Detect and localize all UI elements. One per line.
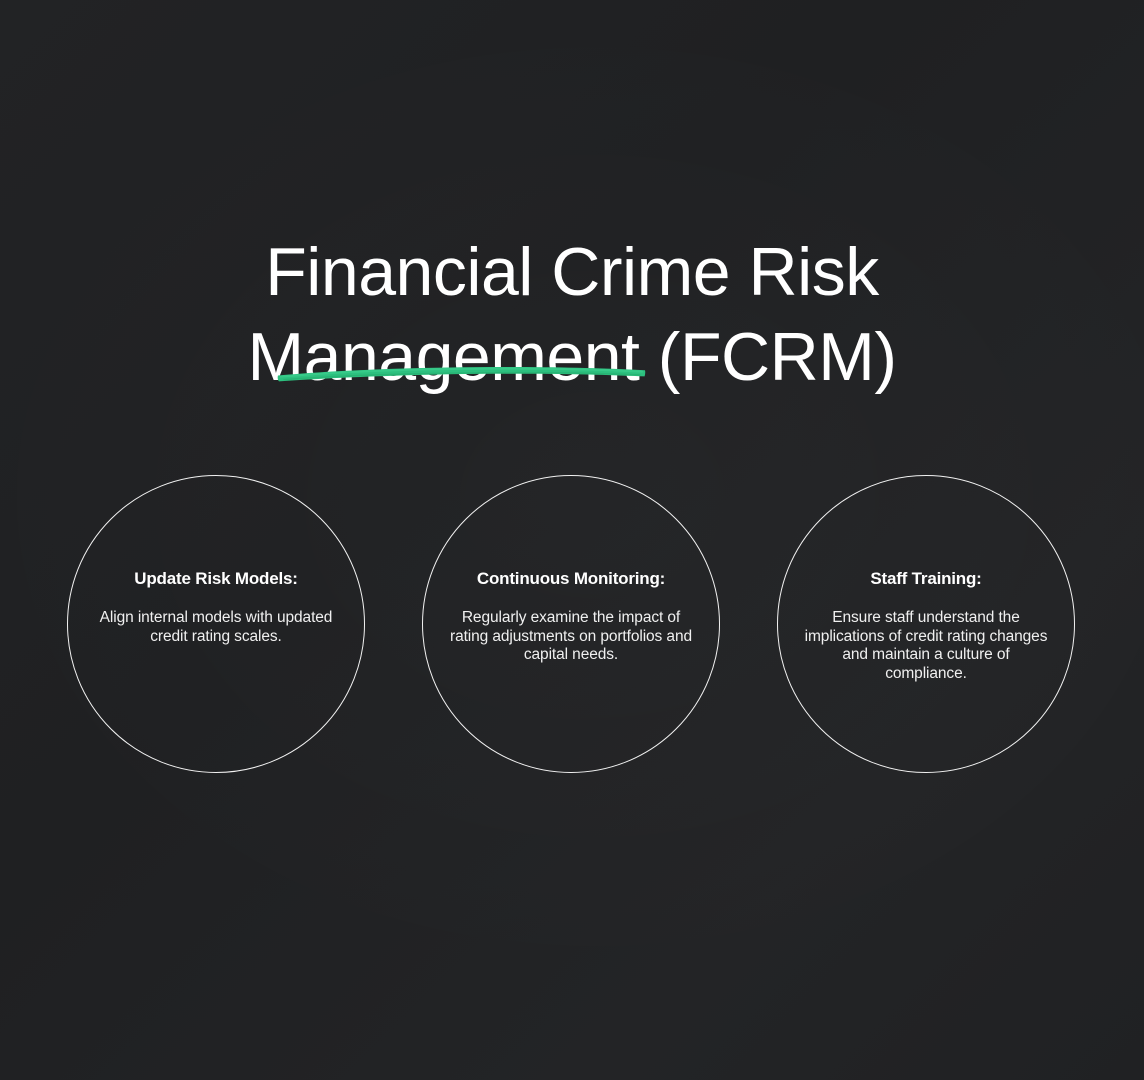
circle-group: Update Risk Models: Align internal model… [0,475,1144,777]
page-title: Financial Crime Risk Management (FCRM) [0,238,1144,391]
title-line-2: Management (FCRM) [0,323,1144,391]
slide-canvas: Financial Crime Risk Management (FCRM) U… [0,0,1144,1080]
circle-heading: Update Risk Models: [134,569,297,589]
circle-heading: Continuous Monitoring: [477,569,665,589]
title-line-1: Financial Crime Risk [0,238,1144,306]
circle-heading: Staff Training: [870,569,981,589]
circle-continuous-monitoring: Continuous Monitoring: Regularly examine… [422,475,720,773]
circle-body: Regularly examine the impact of rating a… [446,609,696,665]
circle-staff-training: Staff Training: Ensure staff understand … [777,475,1075,773]
circle-body: Align internal models with updated credi… [91,609,341,646]
circle-body: Ensure staff understand the implications… [801,609,1051,683]
circle-update-risk-models: Update Risk Models: Align internal model… [67,475,365,773]
